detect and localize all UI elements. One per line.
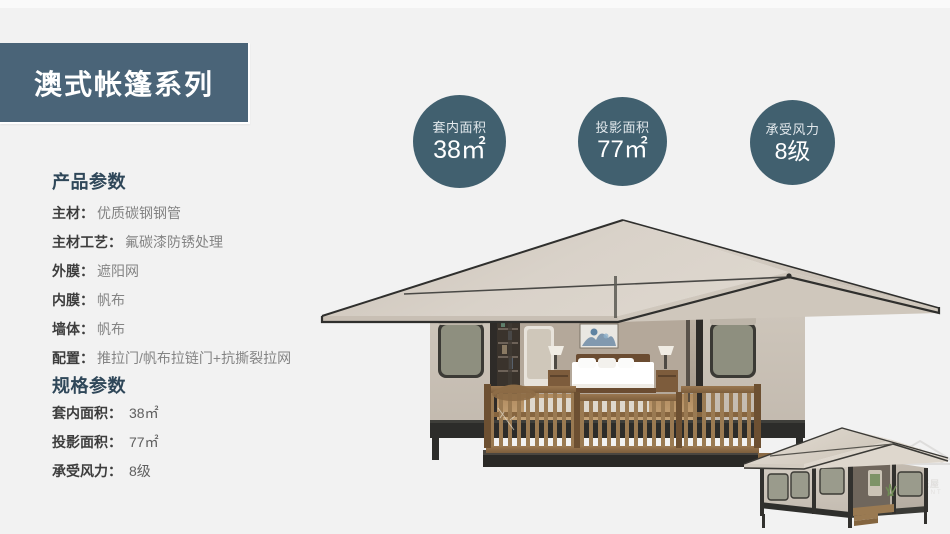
secondary-tent-image	[742, 412, 950, 534]
series-title-banner: 澳式帐篷系列	[0, 43, 250, 124]
param-row: 套内面积： 38㎡	[52, 403, 159, 432]
stat-label: 承受风力	[765, 123, 819, 136]
param-value: 77㎡	[129, 432, 159, 452]
product-spec-page: 澳式帐篷系列 产品参数 主材： 优质碳钢钢管 主材工艺： 氟碳漆防锈处理 外膜：…	[0, 0, 950, 534]
stat-value: 8级	[775, 140, 811, 163]
param-value: 氟碳漆防锈处理	[125, 232, 223, 252]
param-row: 主材工艺： 氟碳漆防锈处理	[52, 232, 291, 261]
product-parameters-list: 主材： 优质碳钢钢管 主材工艺： 氟碳漆防锈处理 外膜： 遮阳网 内膜： 帆布 …	[52, 203, 291, 377]
param-row: 承受风力： 8级	[52, 461, 159, 490]
stat-label: 投影面积	[595, 121, 649, 134]
param-row: 外膜： 遮阳网	[52, 261, 291, 290]
param-label: 主材：	[52, 203, 94, 223]
stat-circle-interior-area: 套内面积 38㎡	[413, 95, 506, 188]
stat-label: 套内面积	[432, 121, 486, 134]
param-value: 帆布	[97, 319, 125, 339]
param-row: 投影面积： 77㎡	[52, 432, 159, 461]
param-label: 主材工艺：	[52, 232, 122, 252]
param-row: 墙体： 帆布	[52, 319, 291, 348]
param-row: 内膜： 帆布	[52, 290, 291, 319]
param-value: 38㎡	[129, 403, 159, 423]
spec-parameters-list: 套内面积： 38㎡ 投影面积： 77㎡ 承受风力： 8级	[52, 403, 159, 490]
tent-roof	[322, 220, 939, 322]
param-label: 内膜：	[52, 290, 94, 310]
param-label: 投影面积：	[52, 432, 122, 452]
secondary-tent-roof	[744, 428, 948, 469]
spec-parameters-heading: 规格参数	[52, 372, 126, 398]
param-label: 外膜：	[52, 261, 94, 281]
param-value: 8级	[129, 461, 151, 481]
param-row: 主材： 优质碳钢钢管	[52, 203, 291, 232]
stat-circle-wind-resistance: 承受风力 8级	[750, 100, 835, 185]
series-title-text: 澳式帐篷系列	[34, 63, 214, 103]
top-strip	[0, 0, 950, 8]
param-label: 墙体：	[52, 319, 94, 339]
stat-value: 77㎡	[597, 138, 648, 162]
stat-value: 38㎡	[433, 138, 486, 163]
param-value: 优质碳钢钢管	[97, 203, 181, 223]
param-label: 套内面积：	[52, 403, 122, 423]
param-value: 遮阳网	[97, 261, 139, 281]
secondary-tent-illustration	[742, 412, 950, 534]
param-value: 推拉门/帆布拉链门+抗撕裂拉网	[97, 348, 291, 368]
stat-circle-projected-area: 投影面积 77㎡	[578, 97, 667, 186]
param-value: 帆布	[97, 290, 125, 310]
param-label: 配置：	[52, 348, 94, 368]
product-parameters-heading: 产品参数	[52, 168, 126, 194]
param-label: 承受风力：	[52, 461, 122, 481]
